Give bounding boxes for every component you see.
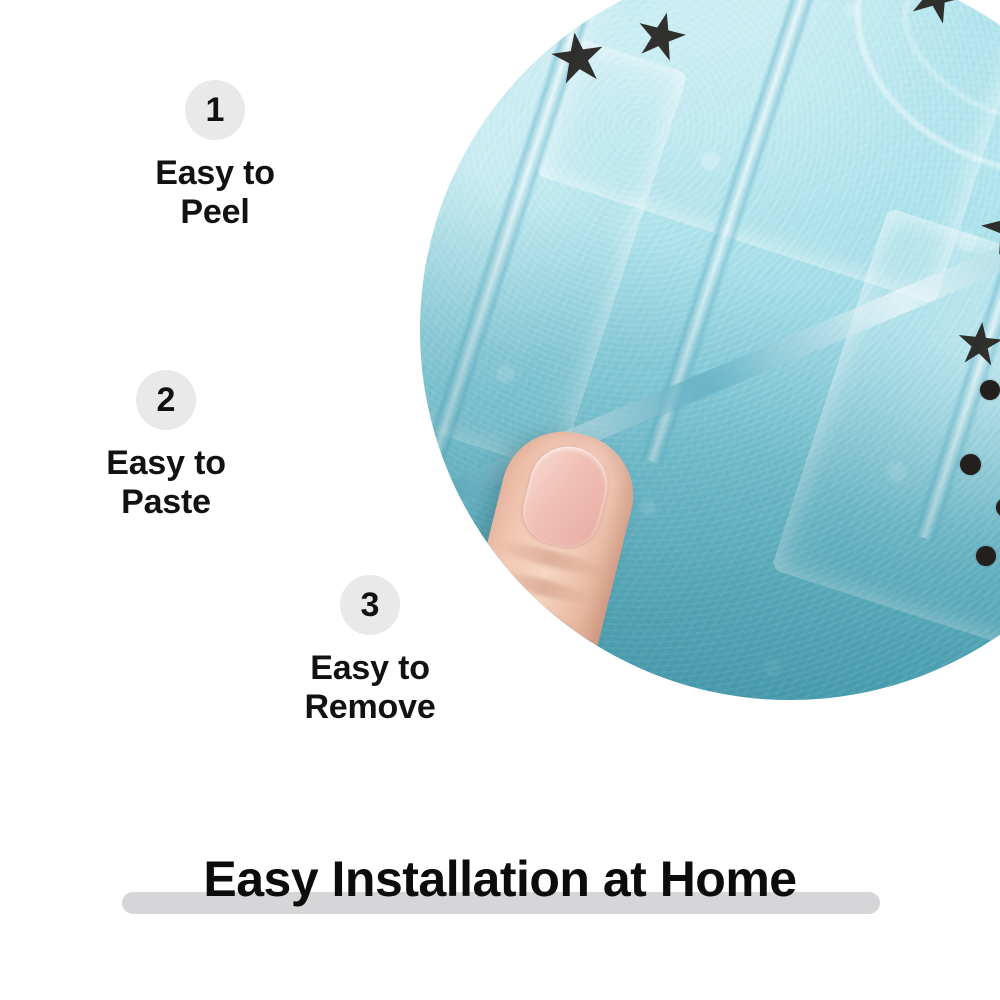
step-badge-2: 2 [136,370,196,430]
step-item-3: 3 Easy to Remove [280,575,460,728]
step-number-1: 1 [206,93,225,127]
step-item-2: 2 Easy to Paste [76,370,256,523]
finger-crease [486,599,579,637]
step-label-3: Easy to Remove [280,649,460,728]
hand-layer [420,0,1000,700]
photo-content [420,0,1000,700]
fingernail [516,438,616,554]
page-title: Easy Installation at Home [0,850,1000,908]
step-badge-1: 1 [185,80,245,140]
step-number-2: 2 [157,383,176,417]
footer-headline-zone: Easy Installation at Home [0,840,1000,940]
finger-pressing-panel [446,418,647,700]
step-badge-3: 3 [340,575,400,635]
step-label-1: Easy to Peel [125,154,305,233]
foam-wall-panel-photo [420,0,1000,700]
finger-crease [490,567,595,608]
step-item-1: 1 Easy to Peel [125,80,305,233]
step-label-2: Easy to Paste [76,444,256,523]
step-number-3: 3 [361,588,380,622]
poster-canvas: 1 Easy to Peel 2 Easy to Paste 3 Easy to… [0,0,1000,1000]
